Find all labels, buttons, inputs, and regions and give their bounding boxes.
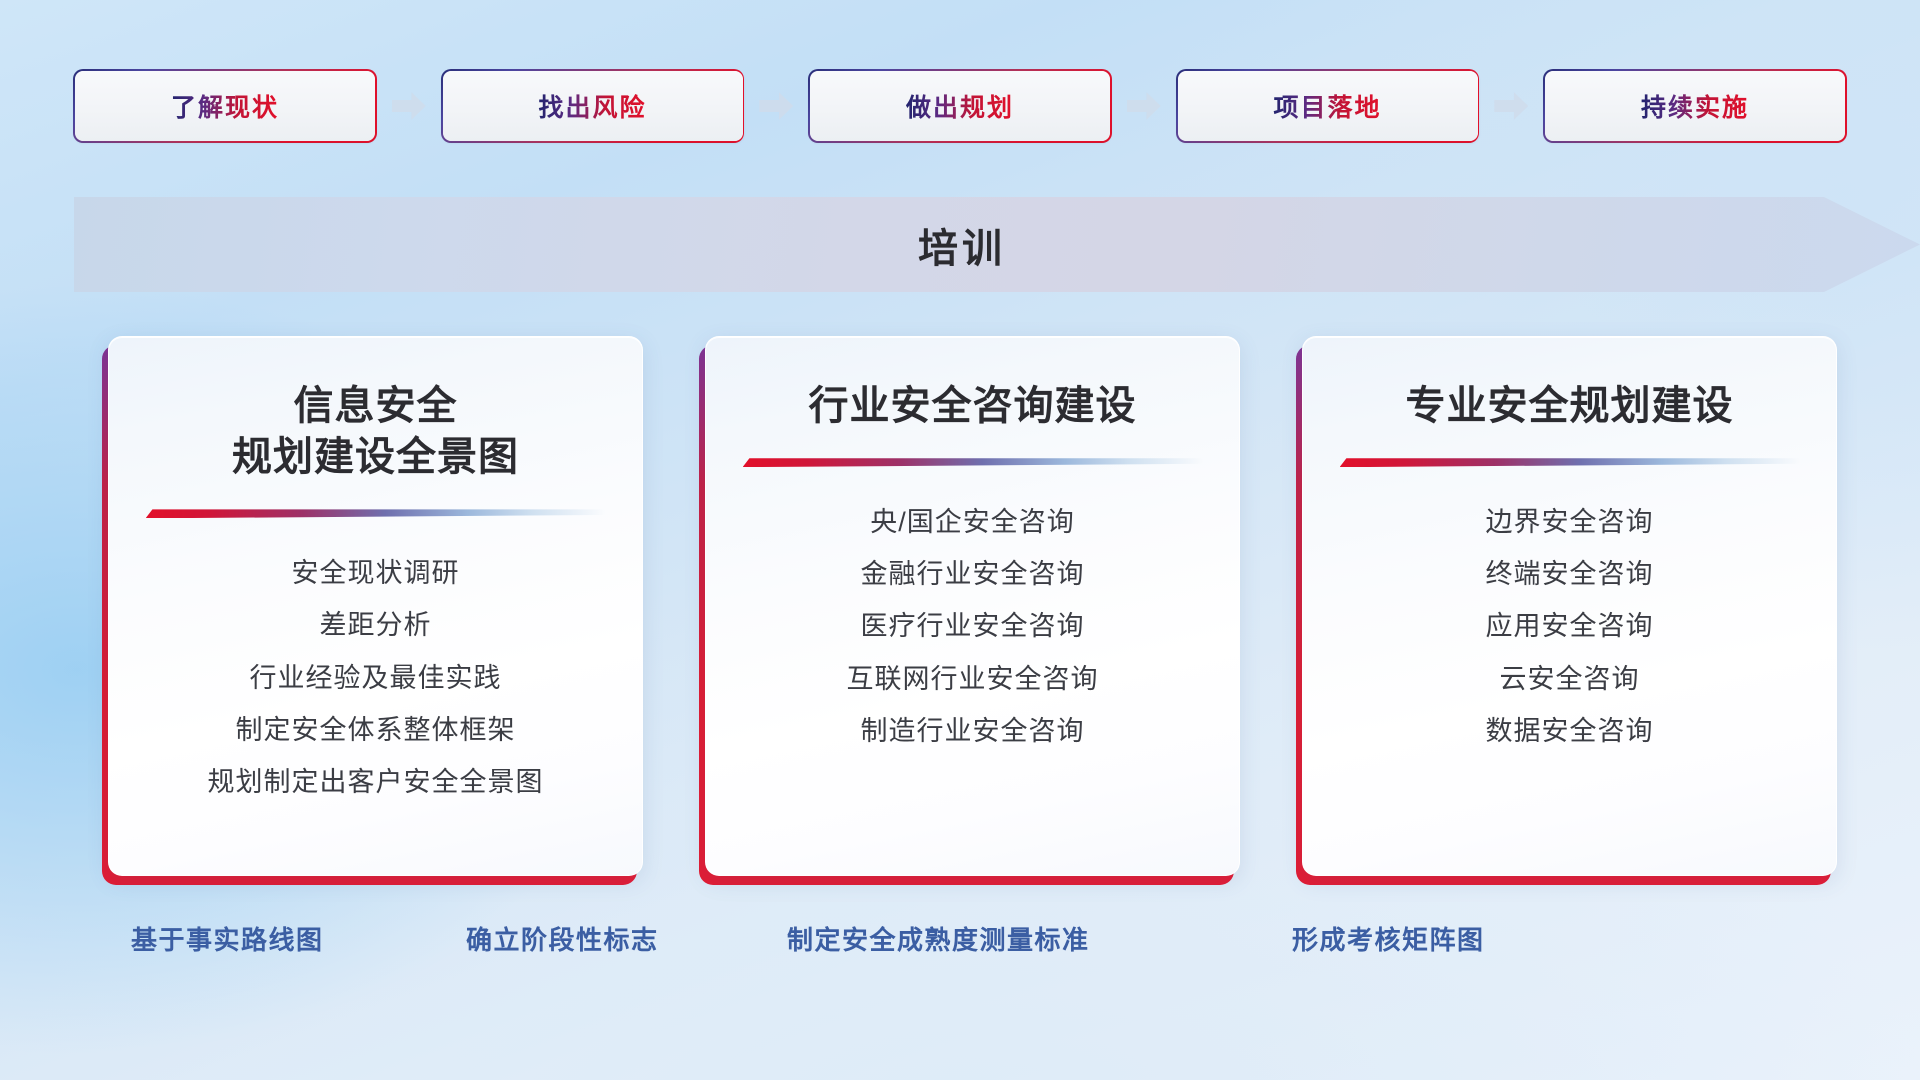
- list-item: 行业经验及最佳实践: [250, 657, 502, 699]
- outcome-label: 确立阶段性标志: [466, 920, 659, 957]
- chevron-right-icon: [1494, 91, 1528, 121]
- list-item: 应用安全咨询: [1486, 605, 1654, 647]
- training-banner: 培训: [74, 197, 1920, 292]
- list-item: 安全现状调研: [292, 552, 460, 594]
- list-item: 规划制定出客户安全全景图: [208, 761, 544, 803]
- process-step-label: 持续实施: [1641, 88, 1749, 124]
- card-wrapper-3: 专业安全规划建设 边界安全咨询 终端安全咨询 应用安全咨询 云安全咨询 数据安全…: [1302, 336, 1837, 876]
- process-step-label: 做出规划: [906, 88, 1014, 124]
- outcome-label: 基于事实路线图: [131, 920, 324, 957]
- card-industry-security-consulting[interactable]: 行业安全咨询建设 央/国企安全咨询 金融行业安全咨询 医疗行业安全咨询 互联网行…: [705, 336, 1240, 876]
- card-title: 行业安全咨询建设: [809, 381, 1137, 432]
- process-step-3[interactable]: 做出规划: [809, 70, 1111, 142]
- card-item-list: 安全现状调研 差距分析 行业经验及最佳实践 制定安全体系整体框架 规划制定出客户…: [139, 552, 612, 803]
- list-item: 金融行业安全咨询: [861, 553, 1085, 595]
- card-item-list: 边界安全咨询 终端安全咨询 应用安全咨询 云安全咨询 数据安全咨询: [1333, 501, 1806, 752]
- list-item: 差距分析: [320, 604, 432, 646]
- process-step-label: 找出风险: [538, 88, 646, 124]
- card-wrapper-2: 行业安全咨询建设 央/国企安全咨询 金融行业安全咨询 医疗行业安全咨询 互联网行…: [705, 336, 1240, 876]
- card-professional-security-planning[interactable]: 专业安全规划建设 边界安全咨询 终端安全咨询 应用安全咨询 云安全咨询 数据安全…: [1302, 336, 1837, 876]
- card-item-list: 央/国企安全咨询 金融行业安全咨询 医疗行业安全咨询 互联网行业安全咨询 制造行…: [736, 501, 1209, 752]
- card-divider: [743, 458, 1203, 467]
- card-divider: [146, 509, 606, 518]
- outcome-label: 形成考核矩阵图: [1292, 920, 1485, 957]
- outcome-label: 制定安全成熟度测量标准: [787, 920, 1090, 957]
- process-step-5[interactable]: 持续实施: [1544, 70, 1846, 142]
- list-item: 医疗行业安全咨询: [861, 605, 1085, 647]
- list-item: 制造行业安全咨询: [861, 710, 1085, 752]
- process-step-row: 了解现状 找出风险 做出规划 项目落地 持续实施: [74, 70, 1846, 142]
- training-banner-label: 培训: [918, 216, 1006, 274]
- card-title: 专业安全规划建设: [1406, 381, 1734, 432]
- card-title: 信息安全 规划建设全景图: [232, 381, 519, 483]
- slide-canvas: 了解现状 找出风险 做出规划 项目落地 持续实施 培训 信息安全 规划建设全景图: [0, 0, 1920, 1080]
- process-step-label: 了解现状: [171, 88, 279, 124]
- list-item: 数据安全咨询: [1486, 710, 1654, 752]
- chevron-right-icon: [392, 91, 426, 121]
- list-item: 制定安全体系整体框架: [236, 709, 516, 751]
- card-information-security-blueprint[interactable]: 信息安全 规划建设全景图 安全现状调研 差距分析 行业经验及最佳实践 制定安全体…: [108, 336, 643, 876]
- list-item: 央/国企安全咨询: [870, 501, 1075, 543]
- list-item: 边界安全咨询: [1486, 501, 1654, 543]
- list-item: 互联网行业安全咨询: [847, 658, 1099, 700]
- card-divider: [1340, 458, 1800, 467]
- process-step-2[interactable]: 找出风险: [442, 70, 744, 142]
- card-wrapper-1: 信息安全 规划建设全景图 安全现状调研 差距分析 行业经验及最佳实践 制定安全体…: [108, 336, 643, 876]
- process-step-1[interactable]: 了解现状: [74, 70, 376, 142]
- process-step-4[interactable]: 项目落地: [1177, 70, 1479, 142]
- list-item: 终端安全咨询: [1486, 553, 1654, 595]
- chevron-right-icon: [1127, 91, 1161, 121]
- card-row: 信息安全 规划建设全景图 安全现状调研 差距分析 行业经验及最佳实践 制定安全体…: [108, 336, 1837, 876]
- outcome-label-row: 基于事实路线图 确立阶段性标志 制定安全成熟度测量标准 形成考核矩阵图: [0, 920, 1920, 966]
- chevron-right-icon: [759, 91, 793, 121]
- list-item: 云安全咨询: [1500, 658, 1640, 700]
- process-step-label: 项目落地: [1273, 88, 1381, 124]
